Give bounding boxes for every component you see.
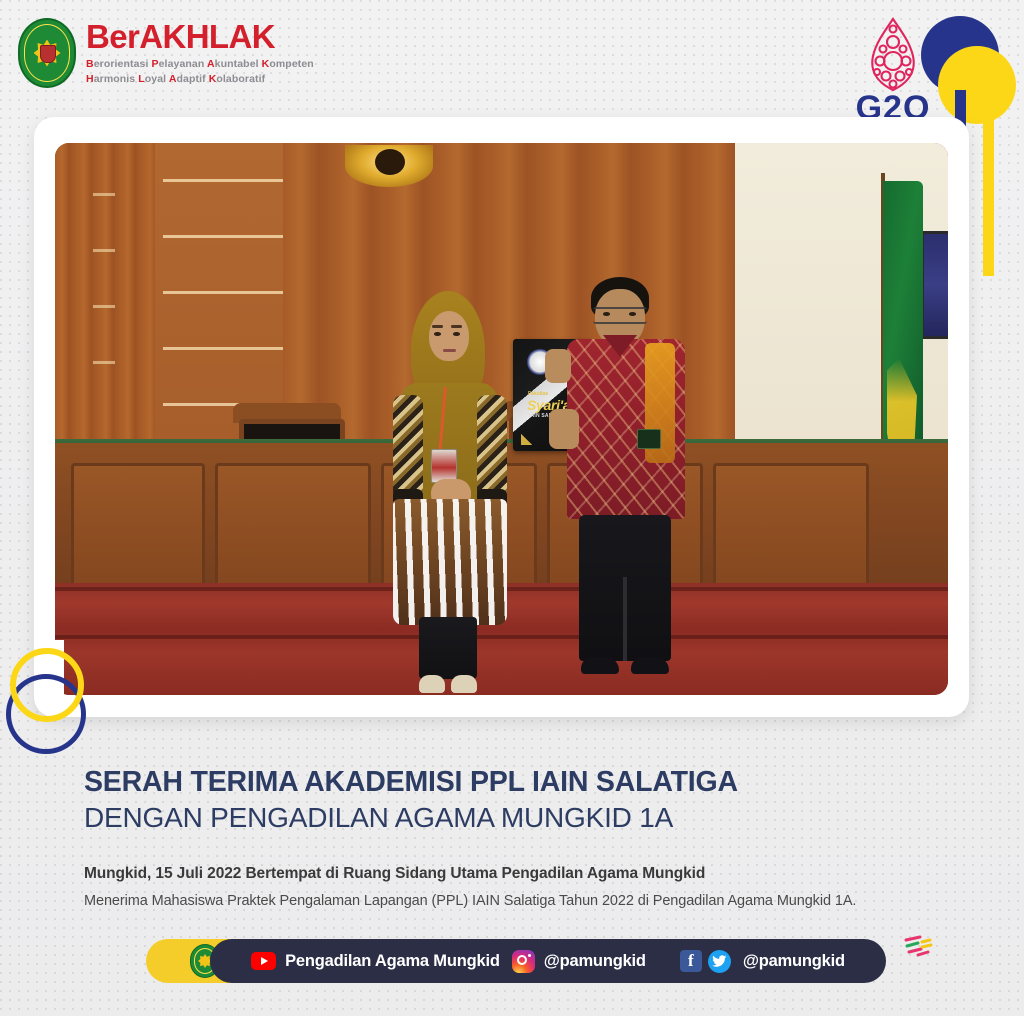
berakhlak-text-group: BerAKHLAK Berorientasi Pelayanan Akuntab…: [86, 18, 314, 87]
youtube-label: Pengadilan Agama Mungkid: [285, 952, 500, 971]
poster-canvas: BerAKHLAK Berorientasi Pelayanan Akuntab…: [0, 0, 1024, 1016]
page-title-line-2: DENGAN PENGADILAN AGAMA MUNGKID 1A: [84, 801, 944, 835]
facebook-twitter-label: @pamungkid: [743, 952, 845, 971]
social-instagram[interactable]: @pamungkid: [512, 950, 646, 973]
event-photo: Fakultas Syari'ah IAIN SALATIGA: [55, 143, 948, 695]
yellow-bar-decoration: [983, 90, 994, 276]
social-handles-bar: Pengadilan Agama Mungkid @pamungkid f @p…: [210, 939, 886, 983]
eyeglasses: [593, 307, 647, 324]
subtitle-bold: Mungkid, 15 Juli 2022 Bertempat di Ruang…: [84, 865, 944, 883]
page-title-line-1: SERAH TERIMA AKADEMISI PPL IAIN SALATIGA: [84, 766, 944, 799]
facebook-icon[interactable]: f: [680, 950, 702, 972]
court-seal-icon: [18, 18, 76, 88]
id-badge: [431, 449, 457, 483]
person-woman: [385, 291, 515, 695]
social-footer: Pengadilan Agama Mungkid @pamungkid f @p…: [0, 930, 1024, 990]
subtitle-plain: Menerima Mahasiswa Praktek Pengalaman La…: [84, 893, 944, 909]
berakhlak-values-line-1: Berorientasi Pelayanan Akuntabel Kompete…: [86, 57, 314, 72]
berakhlak-branding: BerAKHLAK Berorientasi Pelayanan Akuntab…: [18, 18, 314, 88]
berakhlak-wordmark: BerAKHLAK: [86, 20, 314, 53]
gunungan-ornament-icon: [856, 16, 930, 94]
confetti-burst-icon: [902, 934, 936, 962]
name-badge: [637, 429, 661, 449]
youtube-icon[interactable]: [251, 952, 276, 970]
twitter-icon[interactable]: [708, 950, 731, 973]
berakhlak-values: Berorientasi Pelayanan Akuntabel Kompete…: [86, 57, 314, 87]
person-man: [553, 277, 703, 695]
social-youtube[interactable]: Pengadilan Agama Mungkid: [251, 952, 500, 971]
berakhlak-values-line-2: Harmonis Loyal Adaptif Kolaboratif: [86, 72, 314, 87]
yellow-circle-decoration: [938, 46, 1016, 124]
poster-header: BerAKHLAK Berorientasi Pelayanan Akuntab…: [0, 0, 1024, 118]
social-facebook-twitter[interactable]: f @pamungkid: [680, 950, 845, 973]
title-block: SERAH TERIMA AKADEMISI PPL IAIN SALATIGA…: [84, 766, 944, 909]
yellow-ring-decoration: [10, 648, 84, 722]
wall-display-screen: [921, 231, 948, 339]
instagram-icon[interactable]: [512, 950, 535, 973]
instagram-label: @pamungkid: [544, 952, 646, 971]
